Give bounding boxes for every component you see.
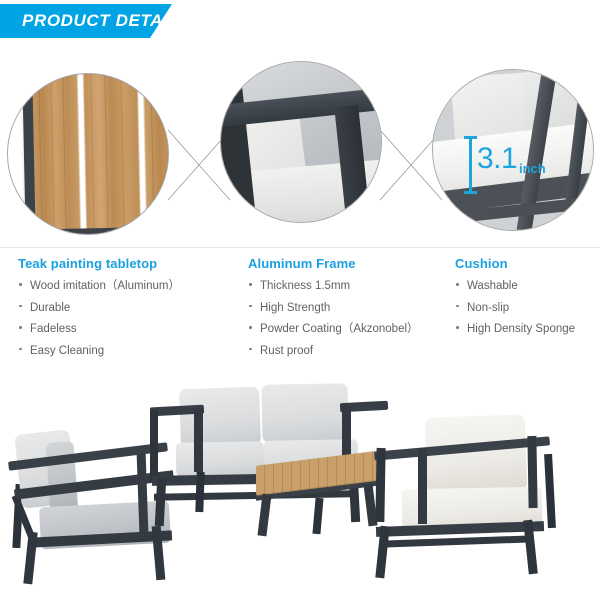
feature-title-tabletop: Teak painting tabletop (18, 256, 238, 271)
bullet-icon (19, 348, 22, 351)
thickness-value: 3.1 (477, 144, 517, 174)
armchair-right (360, 414, 570, 582)
list-item: Thickness 1.5mm (248, 280, 448, 293)
dimension-cap-top (464, 136, 477, 139)
sofa-seat-cushion-left (176, 441, 265, 477)
feature-list-tabletop: Wood imitation（Aluminum） Durable Fadeles… (18, 280, 238, 358)
chair-base-rail (376, 521, 544, 537)
closeup-cushion-thickness: 3.1 inch (432, 69, 594, 231)
bullet-icon (249, 348, 252, 351)
tabletop-panel (22, 73, 169, 235)
feature-text: Thickness 1.5mm (260, 280, 350, 292)
list-item: Washable (455, 280, 595, 293)
feature-text: High Density Sponge (467, 323, 575, 335)
feature-text: Easy Cleaning (30, 345, 104, 357)
list-item: Easy Cleaning (18, 345, 238, 358)
bullet-icon (249, 326, 252, 329)
sofa-back-cushion-left (179, 387, 261, 448)
feature-text: Rust proof (260, 345, 313, 357)
list-item: Non-slip (455, 302, 595, 315)
thickness-unit: inch (519, 162, 546, 175)
bullet-icon (456, 305, 459, 308)
bullet-icon (456, 326, 459, 329)
feature-text: Wood imitation（Aluminum） (30, 280, 180, 292)
dimension-cap-bottom (464, 191, 477, 194)
list-item: Fadeless (18, 323, 238, 336)
feature-column-cushion: Cushion Washable Non-slip High Density S… (455, 256, 595, 345)
feature-list-cushion: Washable Non-slip High Density Sponge (455, 280, 595, 336)
detail-closeups-row: 3.1 inch (0, 55, 600, 245)
chair-leg-front-left (23, 532, 37, 585)
closeup-aluminum-frame (220, 61, 382, 223)
feature-text: Non-slip (467, 302, 509, 314)
sofa-armrest-left-back-post (150, 410, 158, 482)
chair-armrest-far-post (527, 436, 537, 508)
feature-title-cushion: Cushion (455, 256, 595, 271)
chair-armrest-rear-post (375, 448, 385, 522)
chair-leg-rear-right (544, 454, 556, 528)
teak-wood-grain (32, 73, 169, 229)
sofa-armrest-left-post (194, 408, 203, 472)
bullet-icon (249, 305, 252, 308)
list-item: High Strength (248, 302, 448, 315)
feature-column-tabletop: Teak painting tabletop Wood imitation（Al… (18, 256, 238, 367)
chair-armrest-front-post (418, 448, 427, 524)
closeup-teak-tabletop (7, 73, 169, 235)
banner-title: PRODUCT DETAIL (22, 4, 179, 38)
list-item: Wood imitation（Aluminum） (18, 280, 238, 293)
product-set-photo (0, 372, 600, 600)
bullet-icon (19, 326, 22, 329)
bullet-icon (249, 283, 252, 286)
chair-armrest-post (137, 454, 149, 532)
bullet-icon (456, 283, 459, 286)
list-item: High Density Sponge (455, 323, 595, 336)
product-detail-banner: PRODUCT DETAIL (0, 4, 200, 38)
feature-text: Durable (30, 302, 70, 314)
chair-back-cushion-side (46, 441, 79, 515)
feature-text: Fadeless (30, 323, 77, 335)
list-item: Powder Coating（Akzonobel） (248, 323, 448, 336)
sofa-back-cushion-right (262, 383, 349, 442)
feature-text: Washable (467, 280, 518, 292)
section-divider (0, 247, 600, 248)
sofa-leg-left-rear (195, 472, 204, 512)
dimension-line (469, 136, 472, 194)
sofa-leg-left (155, 478, 166, 526)
feature-list-frame: Thickness 1.5mm High Strength Powder Coa… (248, 280, 448, 358)
feature-columns: Teak painting tabletop Wood imitation（Al… (0, 256, 600, 366)
feature-title-frame: Aluminum Frame (248, 256, 448, 271)
bullet-icon (19, 305, 22, 308)
product-detail-page: PRODUCT DETAIL (0, 0, 600, 600)
list-item: Rust proof (248, 345, 448, 358)
chair-lower-rail (382, 535, 532, 547)
bullet-icon (19, 283, 22, 286)
feature-text: High Strength (260, 302, 330, 314)
table-leg-center (312, 498, 323, 535)
list-item: Durable (18, 302, 238, 315)
feature-column-frame: Aluminum Frame Thickness 1.5mm High Stre… (248, 256, 448, 367)
feature-text: Powder Coating（Akzonobel） (260, 323, 419, 335)
